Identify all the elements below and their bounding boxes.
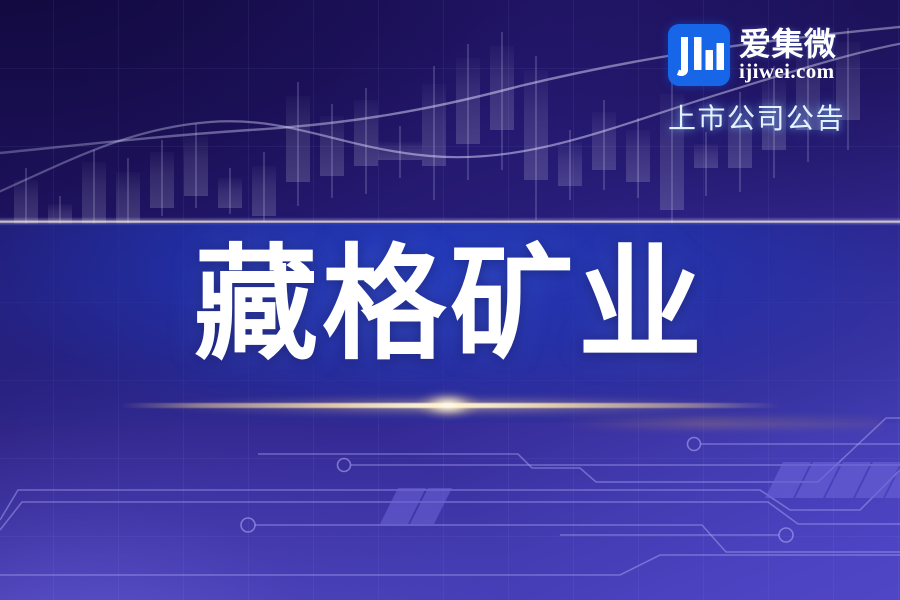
bar-chart-logo-icon bbox=[668, 24, 730, 86]
brand-logo-row: 爱集微 ijiwei.com bbox=[668, 22, 878, 88]
circuit-trace-pattern-icon bbox=[0, 400, 900, 600]
brand-logo-block[interactable]: 爱集微 ijiwei.com 上市公司公告 bbox=[668, 22, 878, 137]
brand-wordmark: 爱集微 ijiwei.com bbox=[739, 28, 837, 83]
announcement-poster: 爱集微 ijiwei.com 上市公司公告 藏格矿业 bbox=[0, 0, 900, 600]
poster-subtitle: 上市公司公告 bbox=[668, 97, 878, 137]
lens-flare-core bbox=[400, 380, 496, 430]
brand-domain: ijiwei.com bbox=[739, 61, 837, 82]
page-title: 藏格矿业 bbox=[0, 232, 900, 378]
brand-name-cn: 爱集微 bbox=[739, 28, 837, 61]
